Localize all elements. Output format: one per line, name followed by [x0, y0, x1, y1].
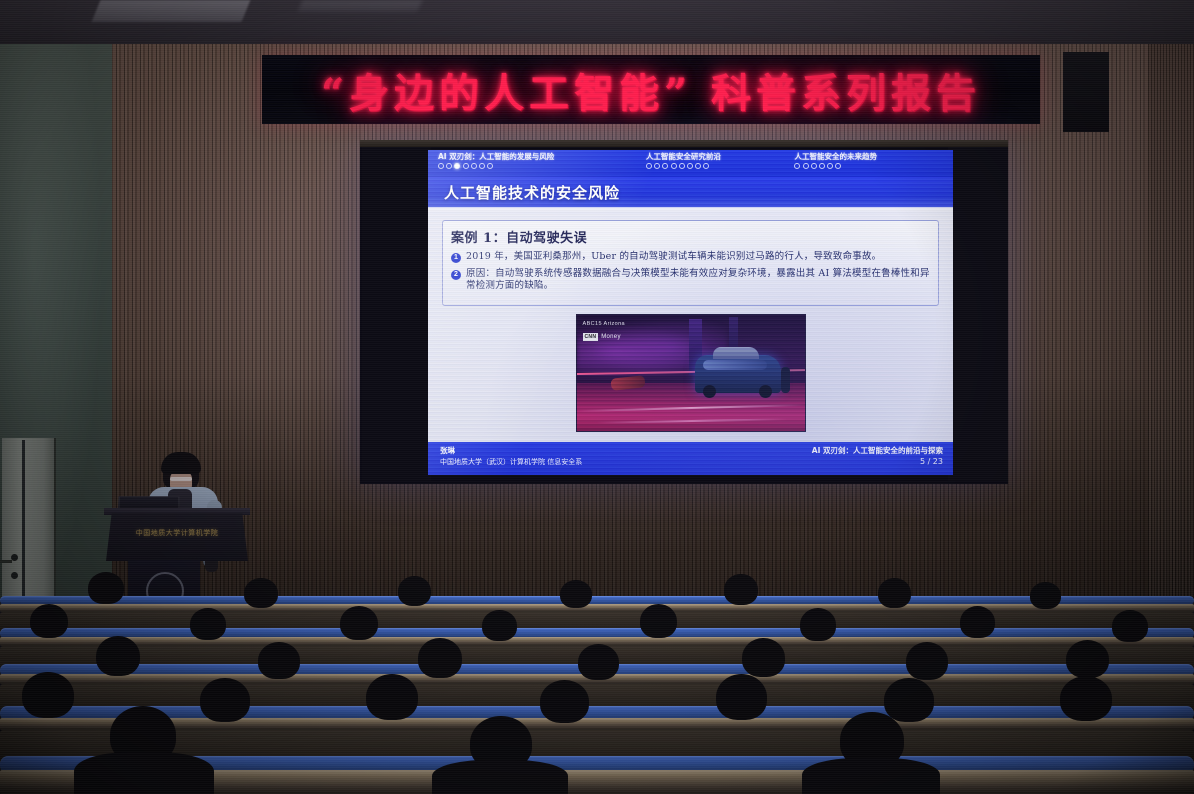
- audience-head: [1112, 610, 1148, 642]
- seat-desk: [0, 604, 1194, 612]
- slide-bullet: 2 原因：自动驾驶系统传感器数据融合与决策模型未能有效应对复杂环境，暴露出其 A…: [451, 268, 930, 293]
- projected-slide: AI 双刃剑：人工智能的发展与风险 人工智能安全研究前沿 人工智能安全的未来趋势…: [428, 150, 953, 475]
- presenter-organization: 中国地质大学（武汉）计算机学院 信息安全系: [440, 457, 582, 467]
- slide-nav-label-1: AI 双刃剑：人工智能的发展与风险: [438, 152, 646, 161]
- bullet-text: 2019 年，美国亚利桑那州，Uber 的自动驾驶测试车辆未能识别过马路的行人，…: [466, 251, 881, 264]
- cnn-logo: CNN: [583, 333, 599, 341]
- auditorium-scene: “身边的人工智能” 科普系列报告 AI 双刃剑：人工智能的发展与风险 人工智能安…: [0, 0, 1194, 794]
- photo-person-silhouette: [781, 367, 790, 393]
- audience-head: [742, 638, 785, 677]
- audience-head: [418, 638, 462, 678]
- slide-title-bar: 人工智能技术的安全风险: [428, 177, 953, 208]
- audience-head: [724, 574, 758, 605]
- audience-head: [340, 606, 378, 640]
- photo-vehicle-wheel-front: [703, 385, 716, 398]
- audience-head: [540, 680, 589, 723]
- photo-vehicle-wheel-rear: [759, 385, 772, 398]
- slide-footer-right: AI 双刃剑：人工智能安全的前沿与探索 5 / 23: [812, 445, 943, 466]
- right-wall-panel: [1148, 44, 1194, 644]
- wall-speaker-right: [1063, 52, 1109, 132]
- audience-head: [1060, 676, 1112, 721]
- case-heading: 案例 1：自动驾驶失误: [451, 227, 930, 246]
- slide-nav-label-3: 人工智能安全的未来趋势: [794, 152, 943, 161]
- podium-sign-text: 中国地质大学计算机学院: [118, 528, 236, 538]
- slide-nav-dots-2: [646, 163, 795, 169]
- audience-head: [200, 678, 250, 722]
- audience-head: [30, 604, 68, 638]
- audience-head: [88, 572, 124, 604]
- door-seam: [22, 440, 25, 612]
- slide-footer-left: 张琳 中国地质大学（武汉）计算机学院 信息安全系: [440, 445, 582, 467]
- slide-title: 人工智能技术的安全风险: [444, 182, 620, 203]
- seat-desk: [0, 718, 1194, 730]
- screen-unlit-left: [362, 147, 431, 481]
- photo-vehicle-roof-sensor: [713, 347, 759, 359]
- audience-head: [906, 642, 948, 680]
- slide-nav-section-1[interactable]: AI 双刃剑：人工智能的发展与风险: [438, 152, 646, 169]
- audience-head: [878, 578, 911, 608]
- audience-head: [190, 608, 226, 640]
- slide-nav-label-2: 人工智能安全研究前沿: [646, 152, 795, 161]
- speaker-hair-front: [161, 452, 201, 474]
- audience-head: [578, 644, 619, 680]
- bullet-number-icon: 2: [451, 270, 461, 280]
- audience-head: [482, 610, 517, 641]
- case-photo: ABC15 Arizona CNN Money: [576, 314, 806, 432]
- audience-head: [366, 674, 418, 720]
- audience-head: [1066, 640, 1109, 678]
- slide-section-nav: AI 双刃剑：人工智能的发展与风险 人工智能安全研究前沿 人工智能安全的未来趋势: [428, 150, 953, 177]
- photo-watermark-station: ABC15 Arizona: [583, 321, 626, 327]
- door-plate: [0, 560, 12, 563]
- slide-nav-section-2[interactable]: 人工智能安全研究前沿: [646, 152, 795, 169]
- slide-body: 案例 1：自动驾驶失误 1 2019 年，美国亚利桑那州，Uber 的自动驾驶测…: [428, 208, 953, 432]
- presenter-name: 张琳: [440, 445, 582, 456]
- screen-unlit-right: [948, 147, 1008, 481]
- audience-head: [560, 580, 592, 608]
- audience-head: [800, 608, 836, 641]
- ceiling-light-fixture: [92, 0, 251, 22]
- bullet-text: 原因：自动驾驶系统传感器数据融合与决策模型未能有效应对复杂环境，暴露出其 AI …: [466, 268, 930, 293]
- led-banner: “身边的人工智能” 科普系列报告: [262, 55, 1040, 124]
- slide-footer: 张琳 中国地质大学（武汉）计算机学院 信息安全系 AI 双刃剑：人工智能安全的前…: [428, 442, 953, 475]
- slide-nav-dots-3: [794, 163, 943, 169]
- audience-head: [1030, 582, 1061, 609]
- slide-page-indicator: 5 / 23: [920, 457, 943, 466]
- audience-head: [258, 642, 300, 679]
- slide-nav-dots-1: [438, 163, 646, 169]
- audience-head: [96, 636, 140, 676]
- screen-mount-bar: [360, 140, 1008, 147]
- photo-watermark-network: CNN Money: [583, 333, 621, 341]
- presentation-topic: AI 双刃剑：人工智能安全的前沿与探索: [812, 445, 943, 456]
- case-study-box: 案例 1：自动驾驶失误 1 2019 年，美国亚利桑那州，Uber 的自动驾驶测…: [442, 220, 939, 306]
- bullet-number-icon: 1: [451, 253, 461, 263]
- audience-head: [22, 672, 74, 718]
- audience-shoulders: [802, 758, 940, 794]
- photo-vehicle-window: [703, 360, 767, 370]
- audience-head: [398, 576, 431, 606]
- slide-nav-section-3[interactable]: 人工智能安全的未来趋势: [794, 152, 943, 169]
- audience-shoulders: [432, 760, 568, 794]
- audience-head: [716, 674, 767, 720]
- audience-head: [960, 606, 995, 638]
- slide-bullet: 1 2019 年，美国亚利桑那州，Uber 的自动驾驶测试车辆未能识别过马路的行…: [451, 251, 930, 264]
- audience-head: [640, 604, 677, 638]
- cnn-money-label: Money: [601, 334, 621, 340]
- audience-shoulders: [74, 752, 214, 794]
- audience-head: [244, 578, 278, 608]
- ceiling-light-fixture-secondary: [298, 0, 423, 12]
- door-handle-lower[interactable]: [11, 572, 18, 579]
- side-door[interactable]: [2, 438, 56, 614]
- led-banner-text: “身边的人工智能” 科普系列报告: [321, 61, 981, 119]
- speaker-glasses: [170, 477, 192, 481]
- audience-head: [884, 678, 934, 722]
- door-handle-upper[interactable]: [11, 554, 18, 561]
